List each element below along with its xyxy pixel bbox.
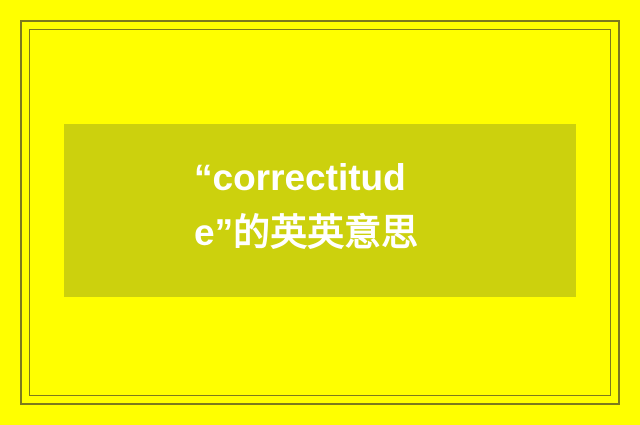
page-title: “correctitude”的英英意思 [194,150,464,260]
poster-canvas: “correctitude”的英英意思 [0,0,640,425]
title-panel: “correctitude”的英英意思 [64,124,576,297]
